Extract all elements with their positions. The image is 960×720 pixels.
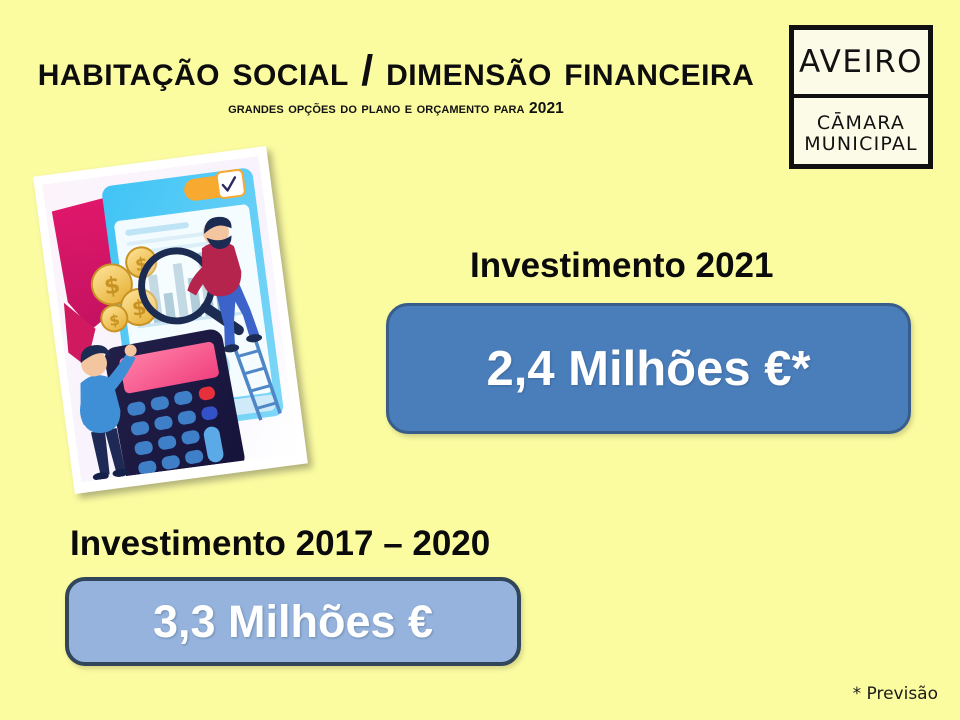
page-subtitle: Grandes Opções do Plano e Orçamento para…	[16, 100, 776, 118]
page-title: Habitação Social / Dimensão Financeira	[16, 50, 776, 93]
finance-illustration: $ $ $ $	[33, 146, 308, 494]
logo-camara-municipal-aveiro: AVEIRO CĀMARA MUNICIPAL	[789, 25, 933, 169]
title-block: Habitação Social / Dimensão Financeira G…	[16, 50, 776, 118]
investimento-2021-value: 2,4 Milhões €*	[486, 341, 810, 397]
footnote-previsao: * Previsão	[853, 684, 938, 704]
logo-camara-text: CĀMARA	[817, 113, 905, 134]
investimento-2017-2020-label: Investimento 2017 – 2020	[70, 524, 490, 564]
slide-canvas: Habitação Social / Dimensão Financeira G…	[0, 0, 960, 720]
logo-aveiro-text: AVEIRO	[799, 47, 923, 78]
svg-text:$: $	[108, 311, 121, 330]
logo-municipal-text: MUNICIPAL	[804, 134, 918, 155]
illustration-artwork: $ $ $ $	[42, 156, 297, 482]
illustration-svg: $ $ $ $	[42, 156, 297, 482]
logo-bottom-section: CĀMARA MUNICIPAL	[794, 98, 928, 167]
investimento-2017-2020-value: 3,3 Milhões €	[153, 596, 433, 648]
investimento-2021-card[interactable]: 2,4 Milhões €*	[386, 303, 911, 434]
svg-text:$: $	[102, 272, 121, 300]
logo-top-section: AVEIRO	[794, 30, 928, 98]
investimento-2017-2020-card[interactable]: 3,3 Milhões €	[65, 577, 521, 666]
investimento-2021-label: Investimento 2021	[470, 246, 773, 286]
